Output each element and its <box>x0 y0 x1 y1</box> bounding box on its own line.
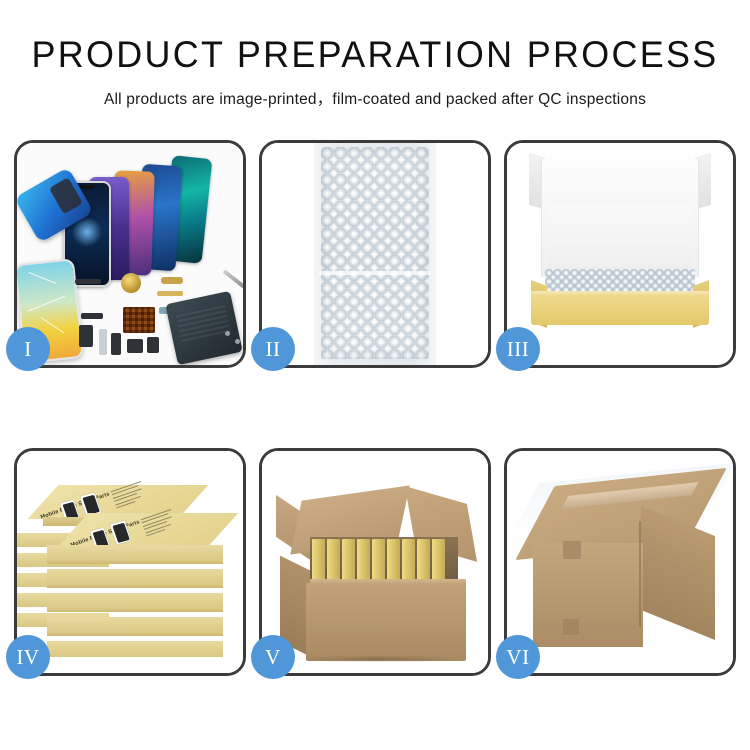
box-front-panel <box>531 295 709 325</box>
step-image-4: Mobile Phone Spare Parts Mobile Phone Sp… <box>17 451 243 673</box>
sealed-carton-edge <box>639 521 641 627</box>
box-interior <box>549 205 691 277</box>
step-image-6 <box>507 451 733 673</box>
step-panel-5: V <box>259 448 491 676</box>
stacked-boxes-group: Mobile Phone Spare Parts Mobile Phone Sp… <box>17 469 243 665</box>
bubble-wrap-bubbles-icon <box>321 147 429 359</box>
step-image-5 <box>262 451 488 673</box>
step-badge-6: VI <box>496 635 540 679</box>
sealed-carton-front <box>533 543 643 647</box>
page-title: PRODUCT PREPARATION PROCESS <box>11 36 739 73</box>
product-preparation-infographic: PRODUCT PREPARATION PROCESS All products… <box>0 0 750 750</box>
carton-tab-lower <box>563 619 579 635</box>
step-badge-2: II <box>251 327 295 371</box>
carton-tab-upper <box>563 541 581 559</box>
page-subtitle: All products are image-printed，film-coat… <box>0 87 750 109</box>
step-image-1 <box>17 143 243 365</box>
step-badge-5: V <box>251 635 295 679</box>
step-badge-1: I <box>6 327 50 371</box>
header: PRODUCT PREPARATION PROCESS All products… <box>0 0 750 109</box>
step-image-2 <box>262 143 488 365</box>
step-panel-4: Mobile Phone Spare Parts Mobile Phone Sp… <box>14 448 246 676</box>
carton-shadow <box>292 655 462 663</box>
step-panel-2: II <box>259 140 491 368</box>
step-panel-6: VI <box>504 448 736 676</box>
bubble-wrap-seam <box>319 271 431 275</box>
step-badge-4: IV <box>6 635 50 679</box>
step-image-3 <box>507 143 733 365</box>
step-panel-3: III <box>504 140 736 368</box>
step-panel-1: I <box>14 140 246 368</box>
step-badge-3: III <box>496 327 540 371</box>
spare-parts-group <box>75 271 243 365</box>
carton-front-panel <box>306 583 466 661</box>
steps-grid: I II <box>14 140 736 676</box>
